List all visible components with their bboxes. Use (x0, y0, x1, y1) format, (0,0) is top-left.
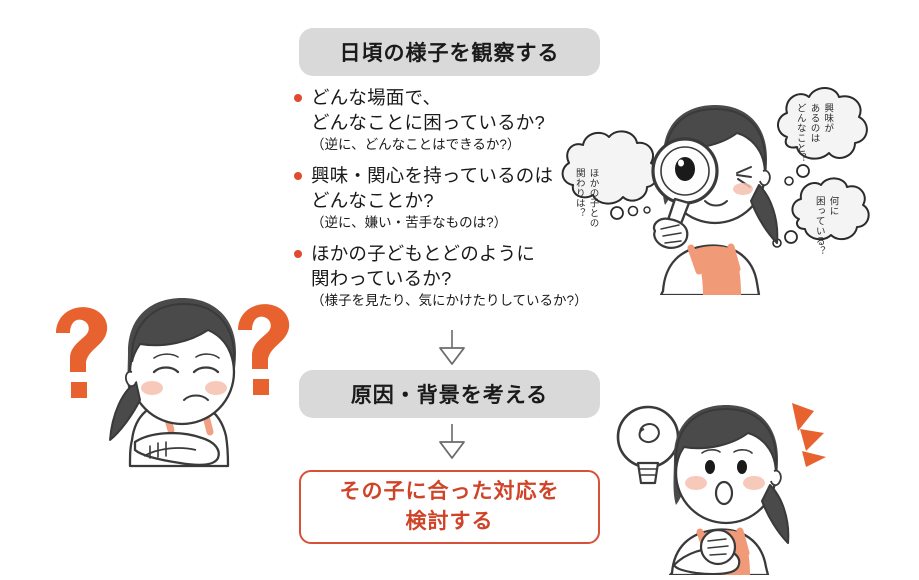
flow-box-observe: 日頃の様子を観察する (299, 28, 600, 76)
diagram-canvas: 日頃の様子を観察する どんな場面で、 どんなことに困っているか? （逆に、どんな… (0, 0, 919, 580)
flow-box-cause-label: 原因・背景を考える (351, 379, 548, 409)
flow-box-cause: 原因・背景を考える (299, 370, 600, 418)
illustration-observing-woman (555, 85, 915, 295)
illustration-idea-woman (600, 395, 910, 575)
bubble-trail-dot (785, 177, 793, 185)
flow-box-observe-label: 日頃の様子を観察する (340, 37, 560, 67)
bullet-dot-icon (294, 94, 302, 102)
thought-bubble-peers-text: ほかの子との 関わりは？ (572, 168, 600, 228)
flow-box-action-line2: 検討する (340, 507, 560, 537)
flow-box-action-line1: その子に合った対応を (340, 477, 560, 507)
flow-box-action: その子に合った対応を 検討する (299, 470, 600, 544)
bubble-trail-dot (629, 207, 638, 216)
arrow-down-icon (435, 424, 469, 465)
bubble-trail-dot (611, 207, 623, 219)
lightbulb-icon (618, 407, 678, 483)
arrow-down-icon (435, 330, 469, 371)
question-mark-icon (56, 307, 107, 398)
bubble-trail-dot (785, 231, 797, 243)
thought-bubble-trouble-text: 何に 困っている？ (812, 196, 840, 248)
bullet-dot-icon (294, 172, 302, 180)
thought-bubble-interest-text: 興味が あるのは どんなこと？ (793, 103, 834, 163)
bubble-trail-dot (644, 207, 650, 213)
bubble-trail-dot (797, 165, 809, 177)
question-mark-icon (238, 304, 289, 395)
emphasis-marks-icon (792, 403, 826, 467)
bullet-dot-icon (294, 250, 302, 258)
illustration-worried-woman (40, 290, 310, 475)
